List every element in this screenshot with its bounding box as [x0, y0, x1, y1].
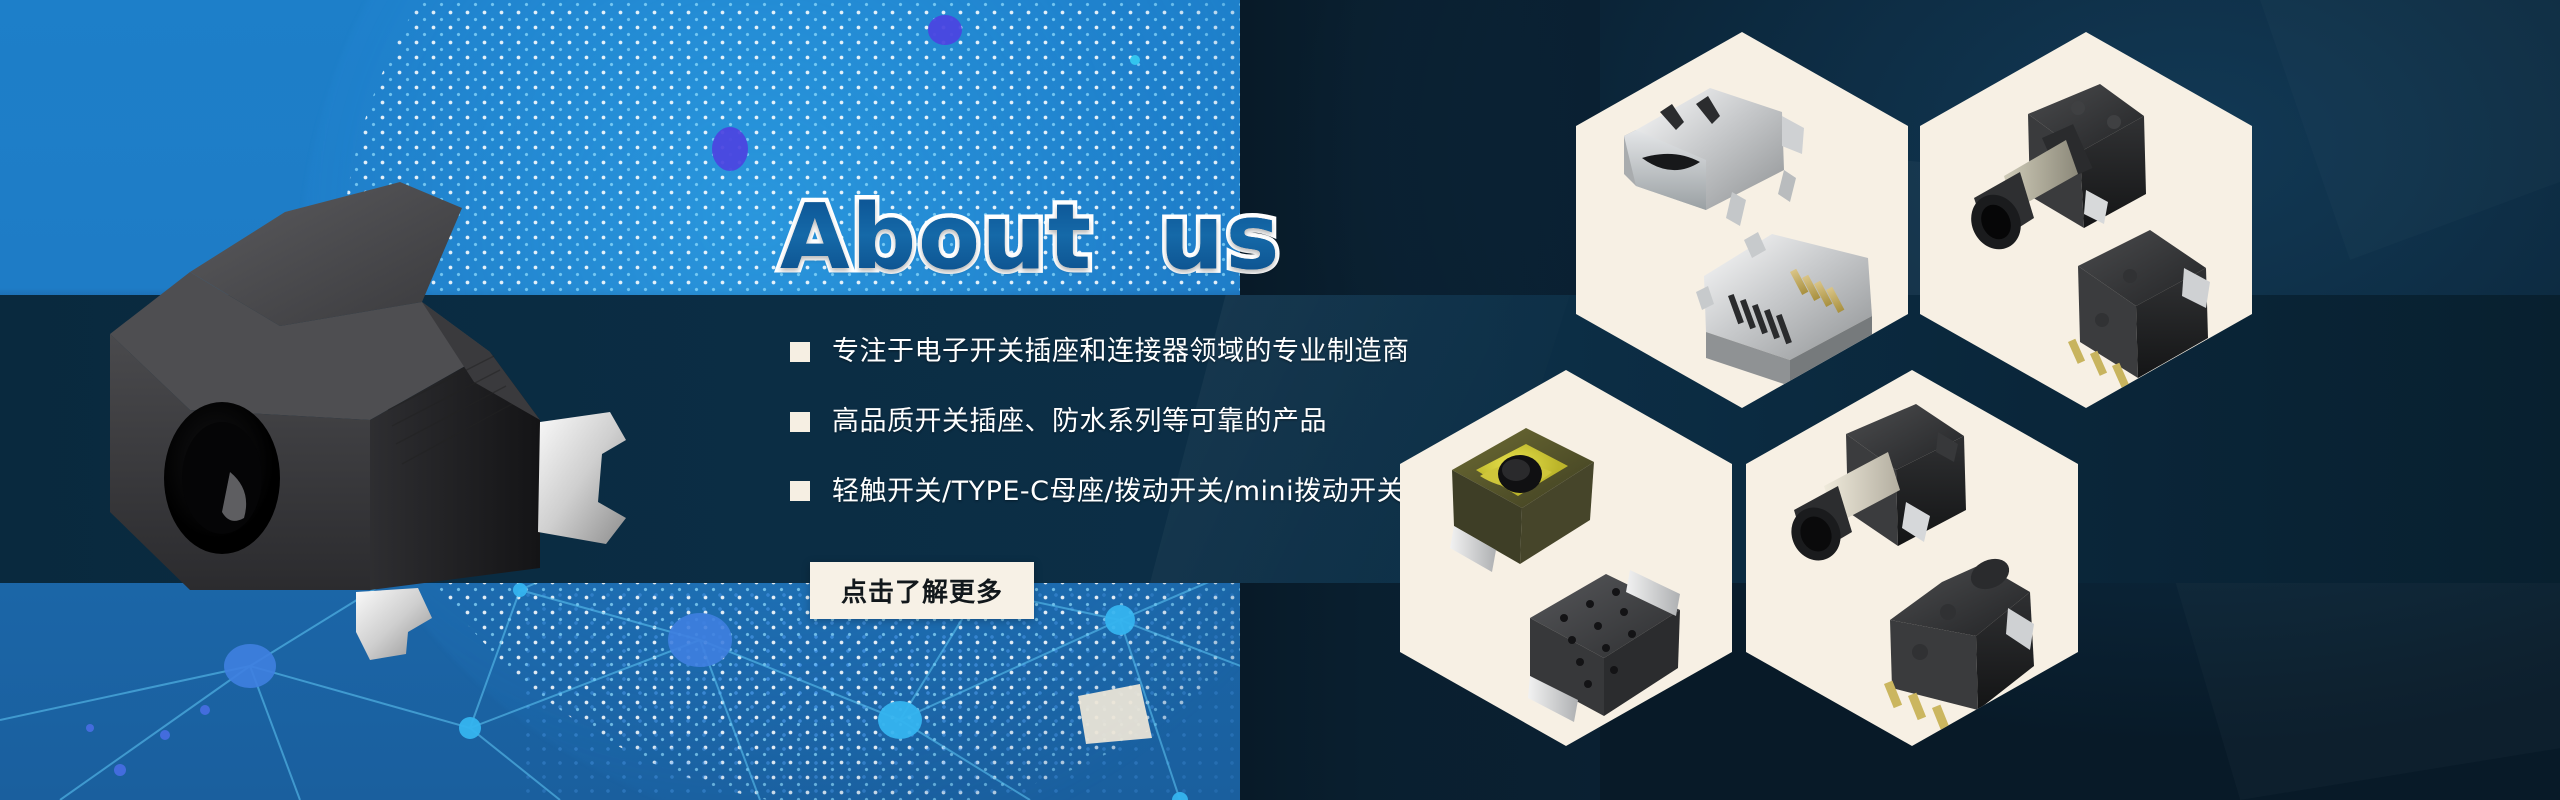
page-title: About us: [780, 185, 1281, 290]
product-hexagon-dc-power-jack[interactable]: [1920, 32, 2252, 408]
usb-type-c-female-connector-illustration: [1576, 32, 1908, 408]
product-hexagon-usb-type-c[interactable]: [1576, 32, 1908, 408]
bullet-text: 高品质开关插座、防水系列等可靠的产品: [832, 405, 1327, 439]
square-bullet-icon: [790, 412, 810, 432]
metal-pin-bottom: [356, 588, 432, 660]
metal-pin-right: [538, 412, 626, 544]
product-hexagon-audio-jack[interactable]: [1746, 370, 2078, 746]
list-item: 高品质开关插座、防水系列等可靠的产品: [790, 405, 1550, 439]
audio-jack-connector-illustration: [1746, 370, 2078, 746]
about-us-banner: About us About us 专注于电子开关插座和连接器领域的专业制造商 …: [0, 0, 2560, 800]
black-dc-power-jack-illustration: [1920, 32, 2252, 408]
square-bullet-icon: [790, 481, 810, 501]
decorative-chip-shape: [1078, 684, 1152, 744]
accent-dot-cyan: [1130, 55, 1140, 65]
dc-power-jack-connector-illustration: [70, 120, 690, 660]
square-bullet-icon: [790, 342, 810, 362]
product-hexagon-cluster: [1540, 0, 2560, 800]
learn-more-button[interactable]: 点击了解更多: [810, 562, 1034, 619]
bullet-text: 专注于电子开关插座和连接器领域的专业制造商: [832, 335, 1410, 369]
list-item: 专注于电子开关插座和连接器领域的专业制造商: [790, 335, 1550, 369]
hero-product-image: [70, 120, 690, 660]
accent-blob-purple-1: [712, 127, 748, 171]
accent-blob-purple-2: [928, 15, 962, 45]
